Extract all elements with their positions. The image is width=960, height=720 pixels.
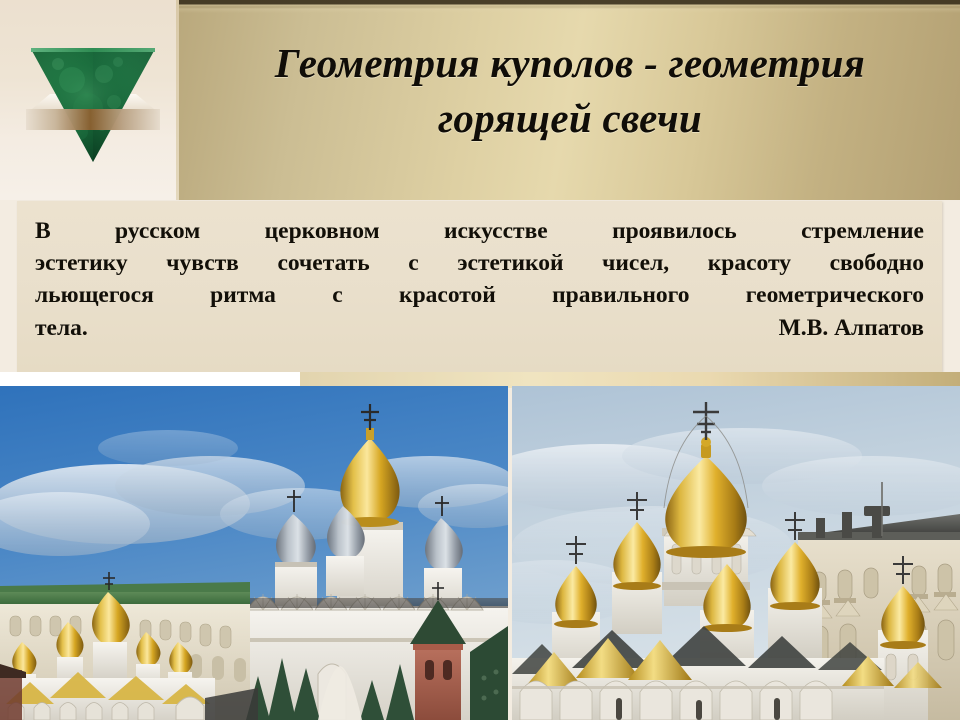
quote-line-2: эстетику чувств сочетать с эстетикой чис… (35, 247, 924, 279)
slide-title-line-2: горящей свечи (190, 91, 950, 146)
slide-canvas: Геометрия куполов - геометрия горящей св… (0, 0, 960, 720)
inverted-pyramid-logo-icon (18, 22, 168, 190)
quote-line-4: тела. (35, 312, 88, 344)
moscow-kremlin-cathedrals-photo (0, 386, 508, 720)
annunciation-cathedral-photo (512, 386, 960, 720)
slide-title: Геометрия куполов - геометрия горящей св… (190, 36, 950, 147)
header-panel-divider (176, 0, 179, 200)
slide-title-line-1: Геометрия куполов - геометрия (190, 36, 950, 91)
quote-line-1: В русском церковном искусстве проявилось… (35, 215, 924, 247)
quote-line-3: льющегося ритма с красотой правильного г… (35, 279, 924, 311)
quote-box: В русском церковном искусстве проявилось… (17, 201, 942, 372)
quote-attribution: М.В. Алпатов (779, 312, 924, 344)
slide-header: Геометрия куполов - геометрия горящей св… (0, 0, 960, 200)
quote-last-line-with-attribution: тела. М.В. Алпатов (35, 312, 924, 344)
